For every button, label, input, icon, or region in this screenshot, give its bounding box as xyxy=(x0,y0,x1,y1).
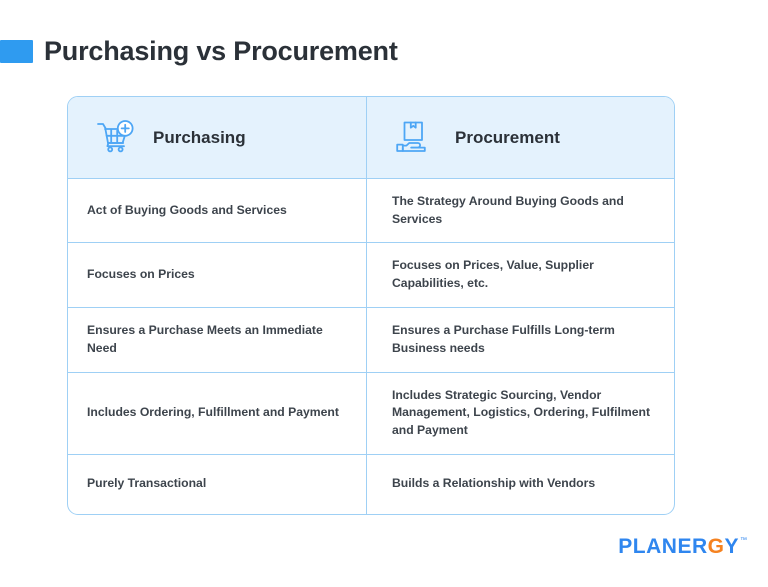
brand-wordmark: PLANERGY xyxy=(618,536,739,557)
table-cell-purchasing: Includes Ordering, Fulfillment and Payme… xyxy=(68,373,367,454)
table-cell-purchasing: Purely Transactional xyxy=(68,455,367,514)
table-cell-procurement: The Strategy Around Buying Goods and Ser… xyxy=(367,179,674,242)
brand-wordmark-part2: Y xyxy=(724,535,739,558)
table-row: Ensures a Purchase Meets an Immediate Ne… xyxy=(68,308,674,373)
title-accent-block xyxy=(0,40,33,63)
table-header-cell-purchasing: Purchasing xyxy=(68,97,367,178)
table-header-label-procurement: Procurement xyxy=(455,128,560,148)
table-cell-purchasing: Act of Buying Goods and Services xyxy=(68,179,367,242)
page-title-row: Purchasing vs Procurement xyxy=(0,32,398,70)
trademark-icon: ™ xyxy=(740,537,747,544)
table-row: Focuses on Prices Focuses on Prices, Val… xyxy=(68,243,674,307)
comparison-table: Purchasing Procurement Act of Buying Goo… xyxy=(67,96,675,515)
brand-wordmark-part1: PLANER xyxy=(618,535,707,558)
table-row: Purely Transactional Builds a Relationsh… xyxy=(68,455,674,514)
table-header-cell-procurement: Procurement xyxy=(367,97,674,178)
table-header-label-purchasing: Purchasing xyxy=(153,128,246,148)
table-row: Includes Ordering, Fulfillment and Payme… xyxy=(68,373,674,455)
shopping-cart-plus-icon xyxy=(93,116,139,160)
brand-wordmark-accent-letter: G xyxy=(708,535,725,558)
page-title: Purchasing vs Procurement xyxy=(44,38,398,65)
table-header-row: Purchasing Procurement xyxy=(68,97,674,179)
table-row: Act of Buying Goods and Services The Str… xyxy=(68,179,674,243)
table-cell-procurement: Builds a Relationship with Vendors xyxy=(367,455,674,514)
table-cell-purchasing: Ensures a Purchase Meets an Immediate Ne… xyxy=(68,308,367,372)
table-cell-procurement: Focuses on Prices, Value, Supplier Capab… xyxy=(367,243,674,306)
table-cell-purchasing: Focuses on Prices xyxy=(68,243,367,306)
planergy-logo: PLANERGY ™ xyxy=(618,536,747,557)
box-on-hand-icon xyxy=(391,116,437,160)
table-cell-procurement: Ensures a Purchase Fulfills Long-term Bu… xyxy=(367,308,674,372)
table-cell-procurement: Includes Strategic Sourcing, Vendor Mana… xyxy=(367,373,674,454)
